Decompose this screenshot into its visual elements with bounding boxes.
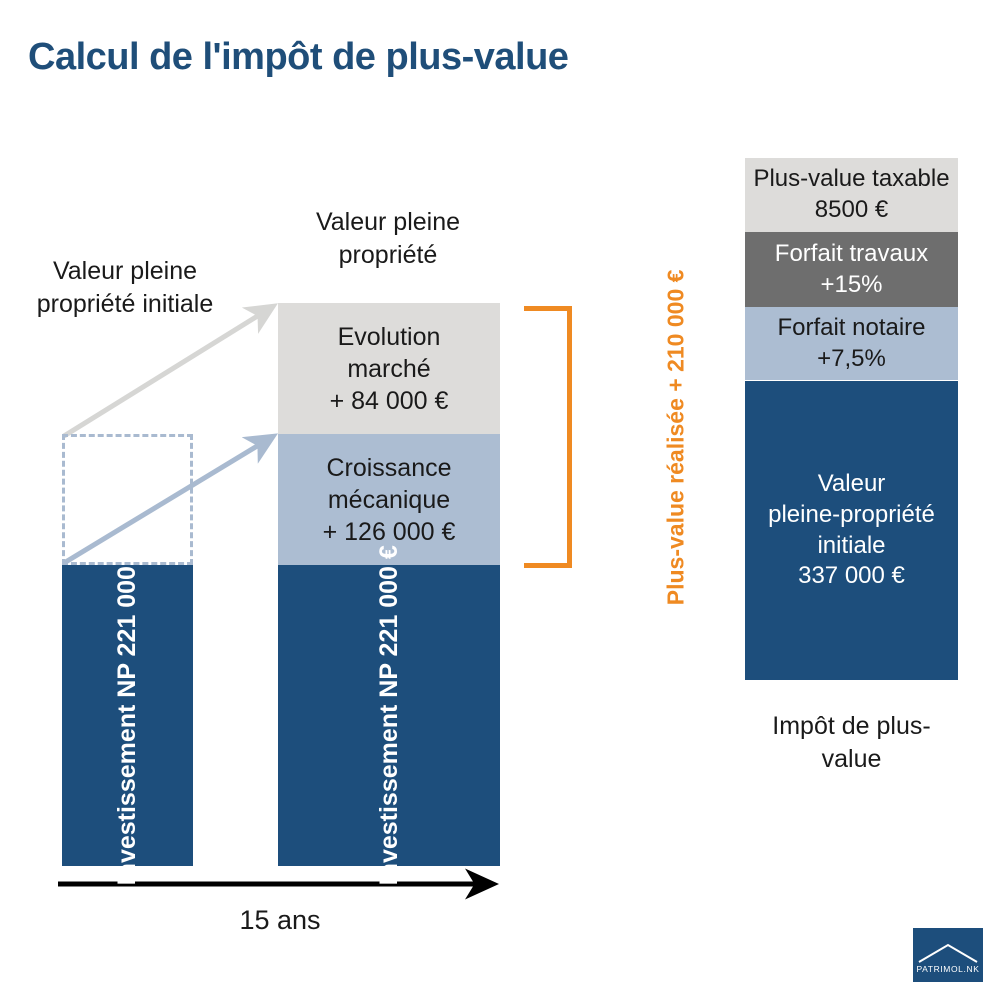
initial-full-ownership-label: Valeur pleine propriété initiale (10, 255, 240, 321)
bracket-line1: Plus-value (663, 490, 689, 605)
valeur-initiale-line3: initiale (817, 531, 885, 562)
initial-value-label-line2: propriété initiale (37, 290, 214, 318)
croissance-mecanique-line2: mécanique (328, 484, 450, 516)
infographic-canvas: Calcul de l'impôt de plus-value Valeur p… (0, 0, 1000, 1000)
middle-bar-label-wrap: Investissement NP 221 000 € (278, 565, 500, 866)
middle-segment-evolution-marche[interactable]: Evolution marché + 84 000 € (278, 303, 500, 434)
middle-bar-label: Investissement NP 221 000 € (373, 545, 406, 885)
full-ownership-value-label: Valeur pleine propriété (268, 206, 508, 272)
plus-value-taxable-value: 8500 € (815, 195, 888, 226)
logo-text: PATRIMOL.NK (917, 964, 980, 974)
timeline-label: 15 ans (195, 905, 365, 936)
left-bar-label-line1: Investissement NP (113, 664, 141, 886)
right-segment-forfait-notaire[interactable]: Forfait notaire +7,5% (745, 307, 958, 380)
full-value-label-line1: Valeur pleine (316, 208, 460, 236)
evolution-marche-line1: Evolution (338, 321, 441, 353)
croissance-mecanique-value: + 126 000 € (323, 516, 456, 548)
full-value-label-line2: propriété (339, 241, 438, 269)
valeur-initiale-line2: pleine-propriété (768, 500, 935, 531)
plus-value-taxable-label: Plus-value taxable (753, 164, 949, 195)
valeur-initiale-value: 337 000 € (798, 561, 905, 592)
left-bar-label-line2: 221 000 € (113, 545, 141, 656)
right-segment-plus-value-taxable[interactable]: Plus-value taxable 8500 € (745, 158, 958, 232)
bracket-line2: réalisée (663, 398, 689, 484)
page-title: Calcul de l'impôt de plus-value (28, 36, 568, 79)
impot-caption-line1: Impôt de (772, 712, 869, 740)
initial-value-label-line1: Valeur pleine (53, 257, 197, 285)
middle-bar-label-line1: Investissement NP (375, 664, 403, 886)
evolution-marche-value: + 84 000 € (330, 385, 449, 417)
plus-value-bracket-label: Plus-value réalisée + 210 000 € (661, 269, 692, 605)
evolution-marche-line2: marché (347, 353, 430, 385)
croissance-mecanique-line1: Croissance (326, 452, 451, 484)
arrow-initial-to-evolution (64, 307, 272, 436)
forfait-travaux-value: +15% (820, 270, 882, 301)
logo-house-icon: PATRIMOL.NK (913, 928, 983, 982)
forfait-travaux-label: Forfait travaux (775, 239, 928, 270)
middle-bar-label-line2: 221 000 € (375, 545, 403, 656)
forfait-notaire-label: Forfait notaire (777, 313, 925, 344)
right-segment-valeur-pleine-propriete-initiale[interactable]: Valeur pleine-propriété initiale 337 000… (745, 381, 958, 680)
forfait-notaire-value: +7,5% (817, 344, 886, 375)
bracket-line3: + 210 000 € (663, 269, 689, 391)
patrimolink-logo[interactable]: PATRIMOL.NK (913, 928, 983, 982)
valeur-initiale-line1: Valeur (818, 469, 886, 500)
left-bar-label-wrap: Investissement NP 221 000 € (62, 565, 193, 866)
left-bar-label: Investissement NP 221 000 € (111, 545, 144, 885)
plus-value-bracket (524, 306, 572, 568)
impot-plus-value-caption: Impôt de plus-value (745, 710, 958, 776)
right-segment-forfait-travaux[interactable]: Forfait travaux +15% (745, 232, 958, 307)
